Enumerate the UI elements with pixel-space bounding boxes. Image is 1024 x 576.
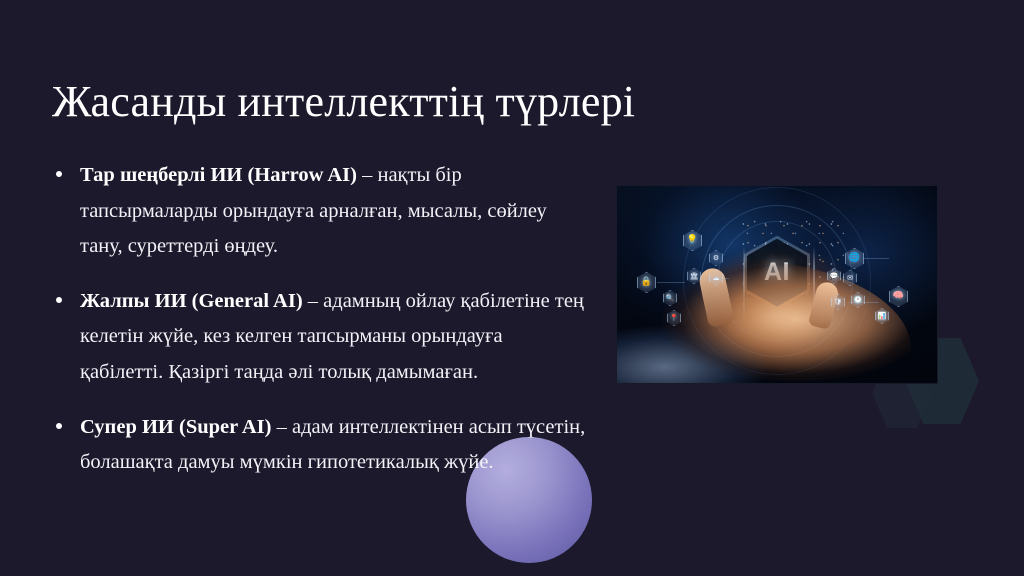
list-item: Тар шеңберлі ИИ (Harrow AI) – нақты бір … [48, 158, 588, 265]
list-item: Супер ИИ (Super AI) – адам интеллектінен… [48, 410, 588, 481]
connector-line [705, 278, 729, 279]
presentation-slide: Жасанды интеллекттің түрлері Тар шеңберл… [0, 0, 1024, 576]
bullet-dot-icon [56, 297, 62, 303]
bullet-list: Тар шеңберлі ИИ (Harrow AI) – нақты бір … [48, 158, 588, 481]
connector-line [863, 258, 889, 259]
ai-concept-illustration: AI 🔒 🔍 🏛 📍 💡 ⚙ ☁ 🌐 💬 ✉ 🧠 🕐 📊 🛡 [617, 186, 937, 383]
list-item-lead: Жалпы ИИ (General AI) [80, 290, 303, 312]
list-item-lead: Супер ИИ (Super AI) [80, 416, 271, 438]
page-title: Жасанды интеллекттің түрлері [52, 78, 752, 126]
slide-image: AI 🔒 🔍 🏛 📍 💡 ⚙ ☁ 🌐 💬 ✉ 🧠 🕐 📊 🛡 [617, 186, 937, 383]
connector-line [657, 282, 685, 283]
list-item-lead: Тар шеңберлі ИИ (Harrow AI) [80, 164, 357, 186]
list-item: Жалпы ИИ (General AI) – адамның ойлау қа… [48, 284, 588, 391]
brain-icon: 🧠 [889, 286, 908, 307]
bullet-dot-icon [56, 171, 62, 177]
connector-line [849, 302, 879, 303]
bullet-dot-icon [56, 423, 62, 429]
